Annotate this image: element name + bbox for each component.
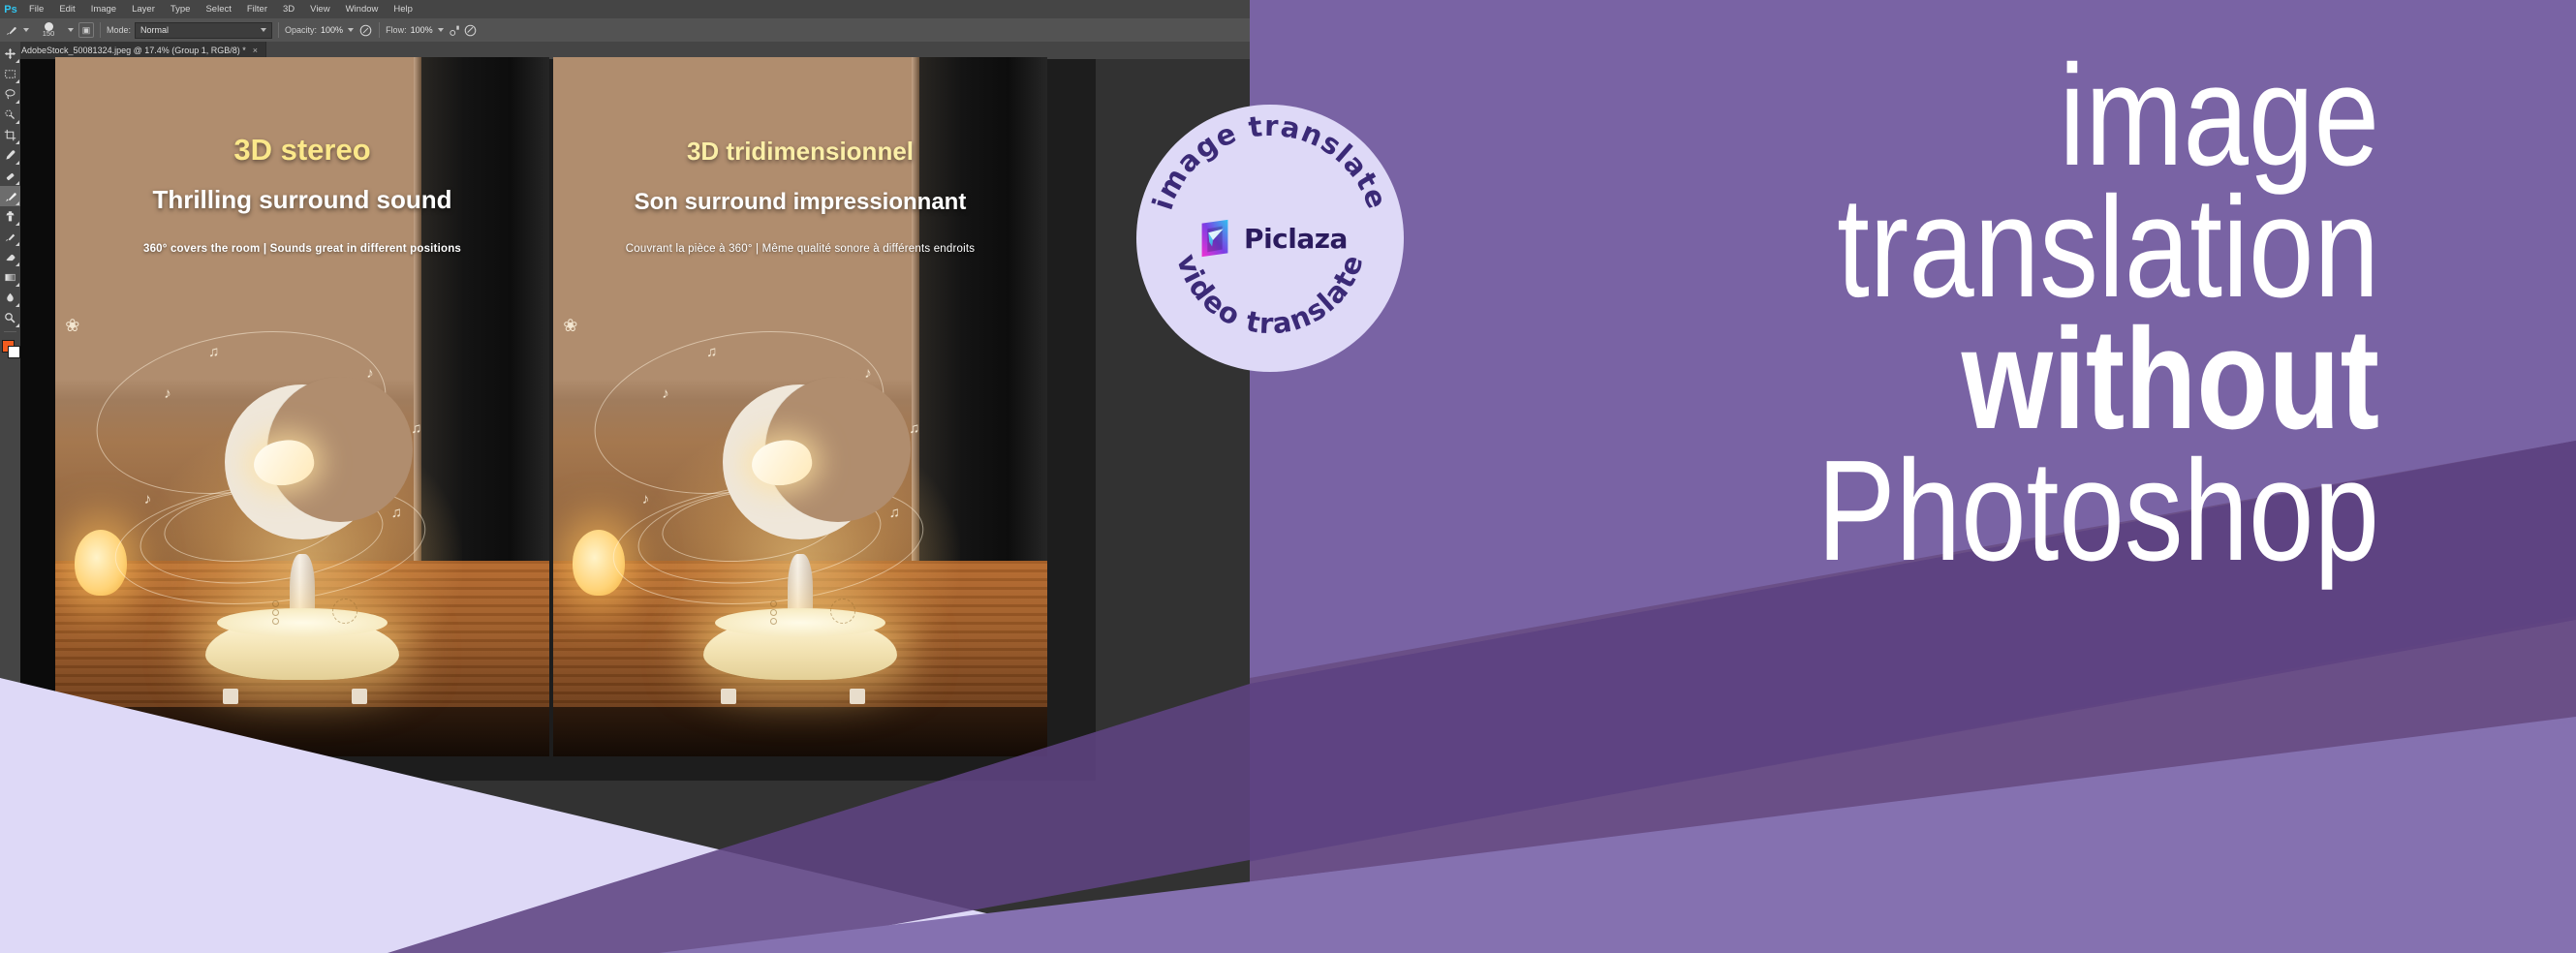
headline-line-1: image [1585,50,2379,182]
blend-mode-value: Normal [140,23,169,38]
tool-options-bar: 150 ▣ Mode: Normal Opacity: 100% Flow: 1… [0,18,1250,43]
headline: image translation without Photoshop [1411,50,2379,578]
canvas-area[interactable]: ♪ ♫ ♪ ♫ ♪ ♫ ❀ 3D stereo Thrilling surrou… [20,59,1250,953]
lamp-foot [352,689,367,704]
photoshop-logo-icon: Ps [0,0,21,18]
menu-item-filter[interactable]: Filter [239,0,275,18]
eraser-tool[interactable] [0,247,20,267]
lamp-base-top [715,608,885,637]
tool-expand-icon [16,262,19,266]
options-divider-3 [379,22,380,38]
panel-wall-edge [912,57,919,561]
opacity-value[interactable]: 100% [321,25,343,35]
music-note-icon: ♪ [366,365,374,382]
tool-expand-icon [16,283,19,287]
panel-floor-shadow [55,707,549,756]
tool-expand-icon [16,222,19,226]
piclaza-logo-icon [1193,216,1237,261]
music-note-icon: ♪ [864,365,872,382]
menu-item-image[interactable]: Image [83,0,124,18]
color-swatches[interactable] [1,339,20,358]
close-icon[interactable]: × [253,46,258,55]
butterfly-icon: ❀ [65,316,79,336]
lamp-power-button-icon [830,599,855,624]
brush-panel-icon[interactable]: ▣ [78,22,94,38]
rectangular-marquee-tool[interactable] [0,64,20,84]
panel-floor-shadow [553,707,1047,756]
opacity-label: Opacity: [285,25,317,35]
panel-subtitle-en: Thrilling surround sound [55,185,549,215]
menu-item-3d[interactable]: 3D [275,0,302,18]
options-divider-2 [278,22,279,38]
music-note-icon: ♫ [208,344,219,360]
panel-tagline-en: 360° covers the room | Sounds great in d… [55,243,549,255]
flow-label: Flow: [386,25,407,35]
tools-panel [0,42,20,953]
clone-stamp-tool[interactable] [0,206,20,227]
lamp-base-top [217,608,388,637]
lamp-indicator-dots-icon [272,600,286,620]
music-note-icon: ♫ [411,420,421,437]
creative-panel-french[interactable]: ♪ ♫ ♪ ♫ ♪ ♫ ❀ 3D tridimensionnel Son sur… [553,57,1047,756]
mode-label: Mode: [107,25,131,35]
photoshop-window: Ps File Edit Image Layer Type Select Fil… [0,0,1250,953]
moon-lamp-icon [723,384,878,539]
tool-expand-icon [16,59,19,63]
music-note-icon: ♪ [164,385,171,402]
brush-icon[interactable] [4,23,18,38]
background-color-swatch[interactable] [8,346,20,358]
brush-preset-chevron-down-icon[interactable] [23,28,29,32]
tool-expand-icon [16,181,19,185]
headline-line-2: translation [1585,182,2379,314]
menu-item-help[interactable]: Help [386,0,420,18]
panel-subtitle-fr: Son surround impressionnant [553,189,1047,216]
menu-item-type[interactable]: Type [163,0,199,18]
tool-expand-icon [16,303,19,307]
panel-dark-wall [916,57,1047,561]
gradient-tool[interactable] [0,267,20,288]
eyedropper-tool[interactable] [0,145,20,166]
music-note-icon: ♪ [662,385,669,402]
creative-panel-english[interactable]: ♪ ♫ ♪ ♫ ♪ ♫ ❀ 3D stereo Thrilling surrou… [55,57,549,756]
airbrush-icon[interactable] [449,23,463,38]
document-tab-title: AdobeStock_50081324.jpeg @ 17.4% (Group … [21,46,246,55]
document-left-gutter [20,59,55,781]
options-divider [100,22,101,38]
brush-size-preview[interactable]: 150 [34,19,63,41]
lamp-foot [223,689,238,704]
tool-expand-icon [16,161,19,165]
blend-mode-chevron-down-icon[interactable] [261,28,266,32]
lamp-foot [721,689,736,704]
menu-item-select[interactable]: Select [198,0,238,18]
music-note-icon: ♫ [909,420,919,437]
menu-item-window[interactable]: Window [338,0,387,18]
tool-expand-icon [16,323,19,327]
panel-tagline-fr: Couvrant la pièce à 360° | Même qualité … [553,243,1047,255]
lasso-tool[interactable] [0,84,20,105]
tool-expand-icon [16,120,19,124]
menu-bar: Ps File Edit Image Layer Type Select Fil… [0,0,1250,18]
butterfly-icon: ❀ [563,316,577,336]
tool-expand-icon [16,79,19,83]
crop-tool[interactable] [0,125,20,145]
blend-mode-select[interactable]: Normal [135,22,272,39]
tools-divider [4,331,16,332]
panel-title-en: 3D stereo [55,133,549,168]
music-note-icon: ♫ [889,505,900,521]
menu-item-file[interactable]: File [21,0,51,18]
panel-title-fr: 3D tridimensionnel [553,137,1047,167]
menu-item-layer[interactable]: Layer [124,0,163,18]
flow-chevron-down-icon[interactable] [438,28,444,32]
dodge-tool[interactable] [0,308,20,328]
opacity-chevron-down-icon[interactable] [348,28,354,32]
lamp-foot [850,689,865,704]
headline-line-3: without [1585,314,2379,446]
lamp-indicator-dots-icon [770,600,784,620]
spot-healing-brush-tool[interactable] [0,166,20,186]
moon-lamp-icon [225,384,380,539]
tool-expand-icon [16,201,19,205]
smoothing-icon[interactable] [463,23,478,38]
lamp-power-button-icon [332,599,357,624]
pressure-opacity-icon[interactable] [358,23,373,38]
piclaza-badge[interactable]: image translate video translate [1136,105,1404,372]
music-note-icon: ♪ [144,491,152,507]
quick-selection-tool[interactable] [0,105,20,125]
move-tool[interactable] [0,44,20,64]
tool-expand-icon [16,140,19,144]
badge-center-lockup: Piclaza [1136,105,1404,372]
music-note-icon: ♫ [706,344,717,360]
blur-tool[interactable] [0,288,20,308]
tool-expand-icon [16,242,19,246]
flow-value[interactable]: 100% [411,25,433,35]
piclaza-wordmark: Piclaza [1244,223,1348,255]
music-note-icon: ♫ [391,505,402,521]
brush-size-chevron-down-icon[interactable] [68,28,74,32]
history-brush-tool[interactable] [0,227,20,247]
tool-expand-icon [16,100,19,104]
brush-size-value: 150 [43,30,55,38]
menu-item-view[interactable]: View [302,0,337,18]
brush-tool[interactable] [0,186,20,206]
music-note-icon: ♪ [642,491,650,507]
menu-item-edit[interactable]: Edit [51,0,82,18]
headline-line-4: Photoshop [1585,446,2379,577]
